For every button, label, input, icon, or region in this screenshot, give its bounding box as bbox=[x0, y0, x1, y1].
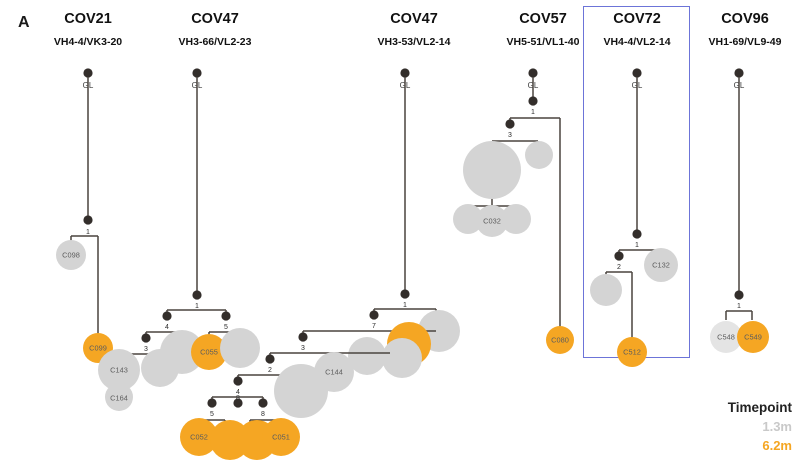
branch-mutation-count: 7 bbox=[372, 323, 376, 330]
sequence-label: C549 bbox=[744, 333, 762, 342]
branch-mutation-count: 1 bbox=[195, 303, 199, 310]
sequence-label: C055 bbox=[200, 348, 218, 357]
internal-node bbox=[298, 332, 307, 341]
internal-node bbox=[83, 215, 92, 224]
germline-node bbox=[83, 68, 92, 77]
sequence-node[interactable] bbox=[274, 364, 328, 418]
branch-mutation-count: 3 bbox=[301, 345, 305, 352]
tree-cov47-1: GL 1 4 5 3 C143 C164 C055 bbox=[98, 68, 260, 411]
internal-node bbox=[233, 376, 242, 385]
sequence-node[interactable] bbox=[590, 274, 622, 306]
sequence-label: C548 bbox=[717, 333, 735, 342]
branch-line bbox=[167, 310, 226, 316]
branch-mutation-count: 2 bbox=[617, 264, 621, 271]
branch-mutation-count: 1 bbox=[737, 303, 741, 310]
germline-node bbox=[528, 68, 537, 77]
internal-node bbox=[221, 311, 230, 320]
branch-mutation-count: 1 bbox=[531, 109, 535, 116]
internal-node bbox=[614, 251, 623, 260]
sequence-label: C512 bbox=[623, 348, 641, 357]
sequence-node[interactable] bbox=[501, 204, 531, 234]
internal-node bbox=[632, 229, 641, 238]
branch-mutation-count: 2 bbox=[268, 367, 272, 374]
sequence-node[interactable] bbox=[141, 349, 179, 387]
sequence-label: C144 bbox=[325, 368, 343, 377]
branch-mutation-count: 1 bbox=[635, 242, 639, 249]
branch-mutation-count: 3 bbox=[508, 132, 512, 139]
germline-node bbox=[400, 68, 409, 77]
sequence-label: C098 bbox=[62, 251, 80, 260]
sequence-node[interactable] bbox=[463, 141, 521, 199]
germline-node bbox=[192, 68, 201, 77]
branch-mutation-count: 5 bbox=[224, 324, 228, 331]
figure-panel-a: A COV21 VH4-4/VK3-20 COV47 VH3-66/VL2-23… bbox=[0, 0, 800, 463]
internal-node bbox=[162, 311, 171, 320]
branch-mutation-count: 3 bbox=[144, 346, 148, 353]
sequence-node[interactable] bbox=[220, 328, 260, 368]
tree-cov21: GL 1 C098 C099 bbox=[56, 68, 113, 363]
tree-cov96: GL 1 C548 C549 bbox=[710, 68, 769, 353]
legend-title: Timepoint bbox=[728, 398, 792, 417]
internal-node bbox=[265, 354, 274, 363]
sequence-label: C143 bbox=[110, 366, 128, 375]
lineage-trees: GL 1 C098 C099 GL 1 4 5 3 bbox=[0, 0, 800, 463]
germline-node bbox=[632, 68, 641, 77]
internal-node bbox=[141, 333, 150, 342]
branch-mutation-count: 4 bbox=[165, 324, 169, 331]
branch-mutation-count: 1 bbox=[86, 229, 90, 236]
internal-node bbox=[192, 290, 201, 299]
sequence-label: C032 bbox=[483, 217, 501, 226]
internal-node bbox=[734, 290, 743, 299]
sequence-label: C051 bbox=[272, 433, 290, 442]
germline-node bbox=[734, 68, 743, 77]
sequence-label: C132 bbox=[652, 261, 670, 270]
legend: Timepoint 1.3m 6.2m bbox=[728, 398, 792, 455]
sequence-node[interactable] bbox=[525, 141, 553, 169]
internal-node bbox=[369, 310, 378, 319]
legend-item-late: 6.2m bbox=[728, 436, 792, 455]
internal-node bbox=[505, 119, 514, 128]
branch-mutation-count: 8 bbox=[261, 411, 265, 418]
branch-mutation-count: 8 bbox=[236, 395, 240, 402]
internal-node bbox=[400, 289, 409, 298]
legend-item-early: 1.3m bbox=[728, 417, 792, 436]
sequence-label: C099 bbox=[89, 344, 107, 353]
branch-mutation-count: 5 bbox=[210, 411, 214, 418]
internal-node bbox=[207, 398, 216, 407]
branch-line bbox=[726, 311, 752, 320]
tree-cov57: GL 1 3 C032 C080 bbox=[453, 68, 574, 354]
tree-cov72: GL 1 2 C132 C512 bbox=[590, 68, 678, 367]
sequence-label: C080 bbox=[551, 336, 569, 345]
sequence-label: C052 bbox=[190, 433, 208, 442]
internal-node bbox=[528, 96, 537, 105]
sequence-label: C164 bbox=[110, 394, 128, 403]
tree-cov47-2: GL 1 7 3 2 C144 4 8 bbox=[180, 68, 460, 460]
internal-node bbox=[258, 398, 267, 407]
branch-mutation-count: 1 bbox=[403, 302, 407, 309]
sequence-node[interactable] bbox=[382, 338, 422, 378]
